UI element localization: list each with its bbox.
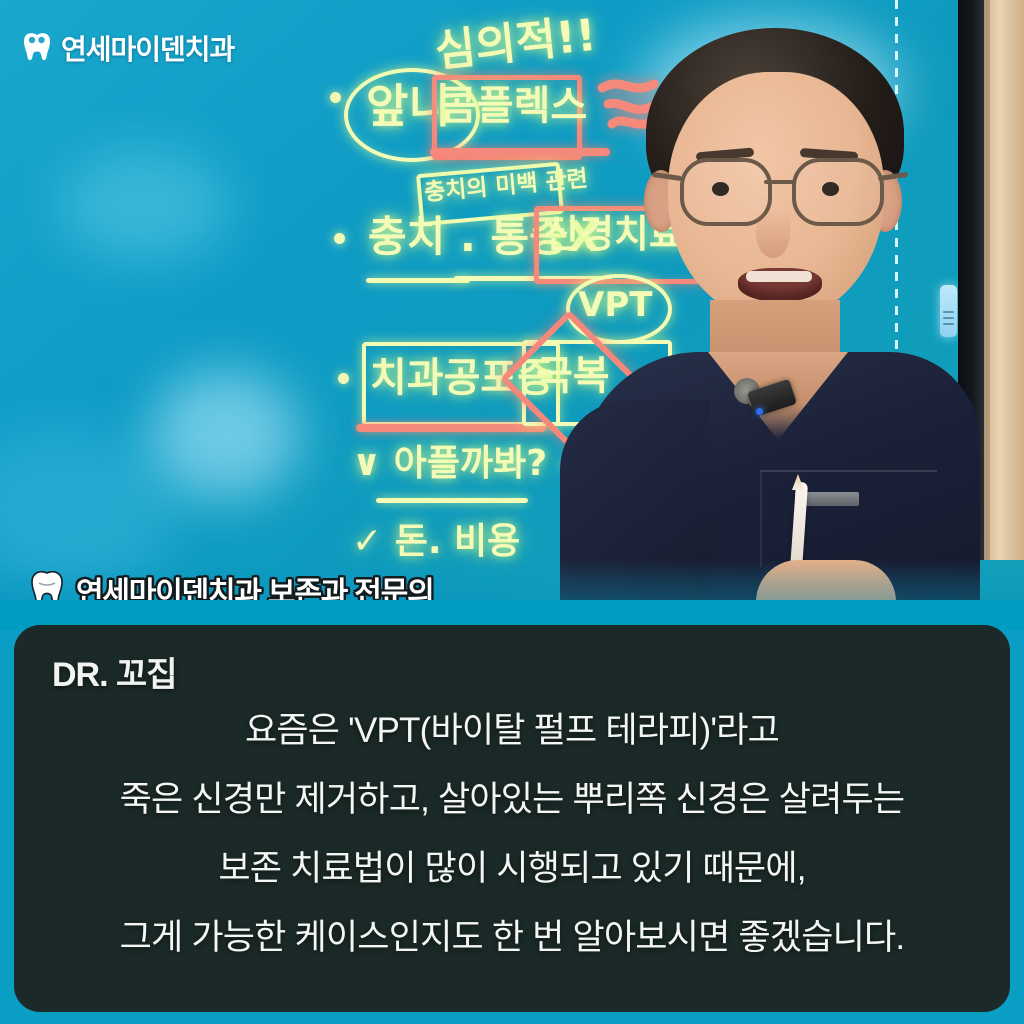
mic-led-icon: [756, 408, 763, 415]
note-bullet: [338, 373, 349, 384]
note-text: ✓ 돈. 비용: [352, 524, 520, 560]
caption-line: 보존 치료법이 많이 시행되고 있기 때문에,: [218, 840, 805, 891]
nose: [756, 210, 790, 258]
wood-wall: [984, 0, 1024, 560]
speaker-person: [560, 0, 980, 620]
video-post-card: 심의적!! 앞니 콤플렉스 충치의 미백 관련 충치 . 통증X 신경치료X: [0, 0, 1024, 1024]
note-bullet: [334, 233, 345, 244]
clinic-logo-text: 연세마이덴치과: [61, 28, 234, 68]
speaker-name: DR. 꼬집: [52, 647, 984, 696]
note-bullet: [330, 92, 341, 103]
caption-line: 그게 가능한 케이스인지도 한 번 알아보시면 좋겠습니다.: [120, 909, 905, 960]
clinic-logo: 연세마이덴치과: [22, 28, 234, 68]
caption-card: DR. 꼬집 요즘은 'VPT(바이탈 펄프 테라피)'라고 죽은 신경만 제거…: [14, 625, 1010, 1012]
note-red-underline: [356, 424, 546, 432]
note-underline: [376, 498, 528, 503]
video-frame: 심의적!! 앞니 콤플렉스 충치의 미백 관련 충치 . 통증X 신경치료X: [0, 0, 1024, 620]
tooth-icon: [22, 32, 52, 65]
wall-edge: [984, 0, 990, 560]
chest-pocket: [760, 470, 937, 567]
mouth: [738, 268, 822, 302]
caption-line: 죽은 신경만 제거하고, 살아있는 뿌리쪽 신경은 살려두는: [120, 771, 905, 822]
caption-lines: 요즘은 'VPT(바이탈 펄프 테라피)'라고 죽은 신경만 제거하고, 살아있…: [40, 702, 984, 960]
caption-line: 요즘은 'VPT(바이탈 펄프 테라피)'라고: [245, 702, 779, 753]
